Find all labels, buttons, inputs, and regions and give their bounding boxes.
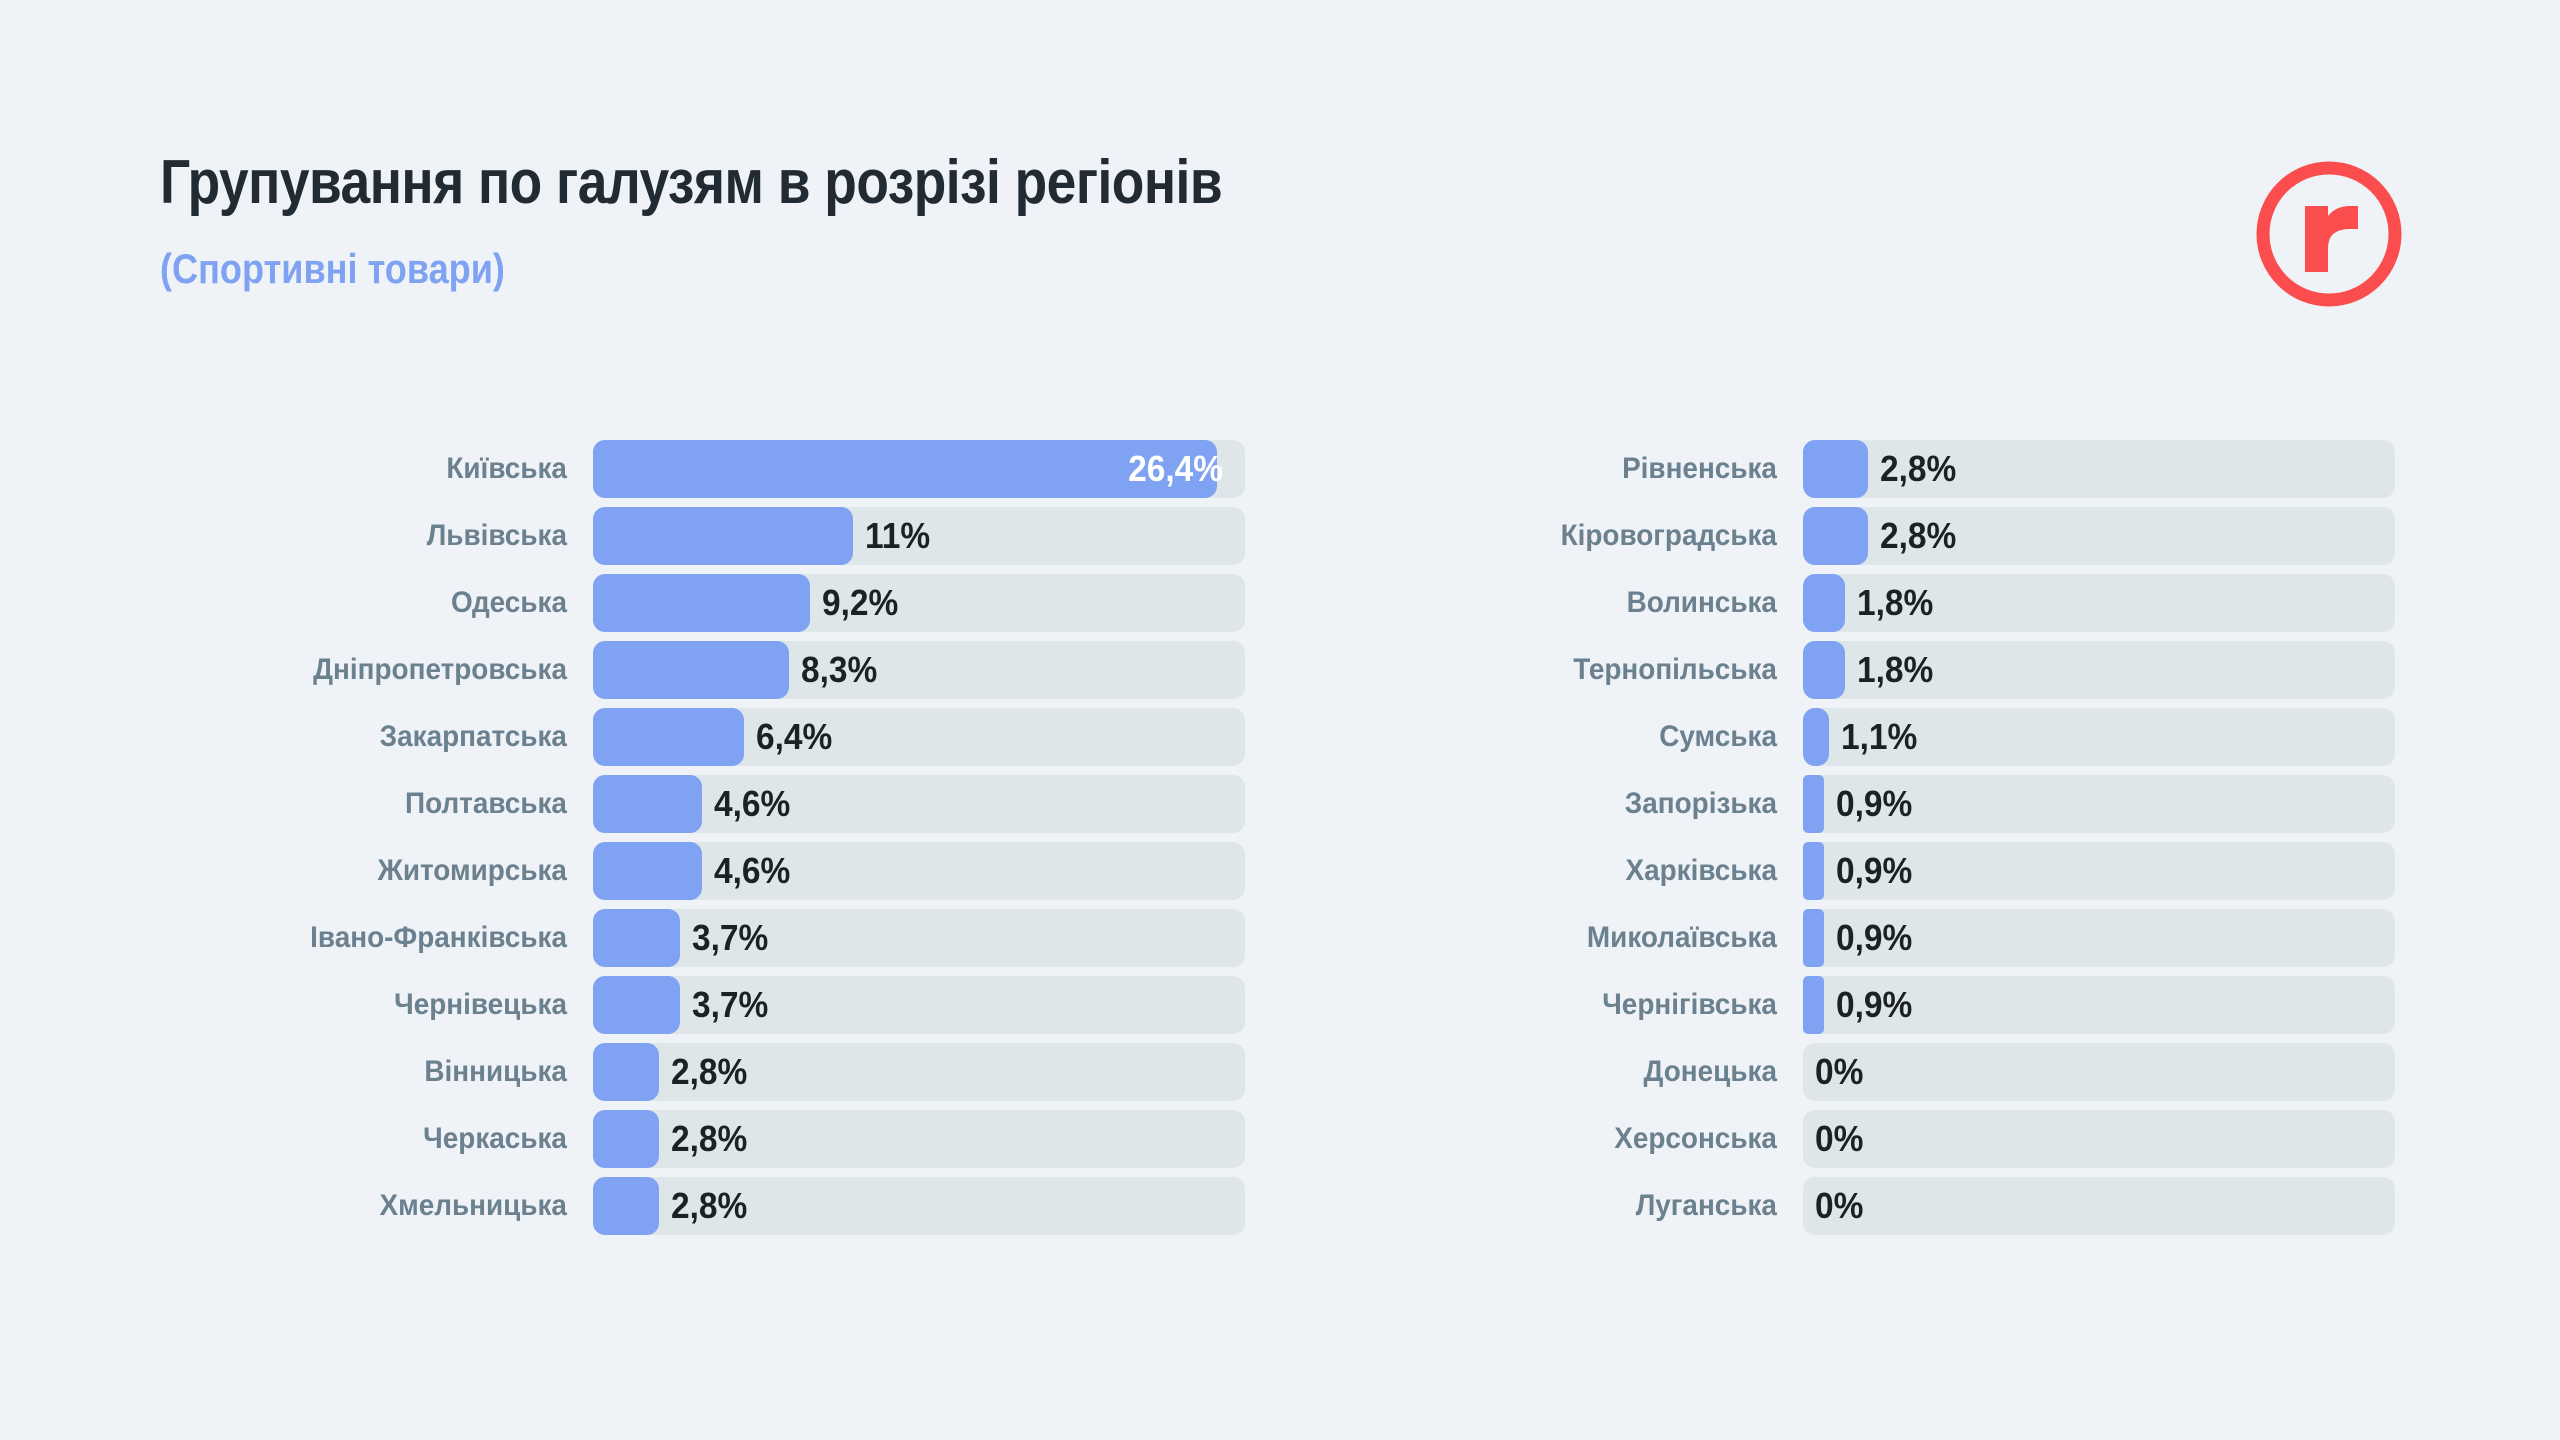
bar-value-label: 6,4% <box>756 708 832 766</box>
bar-fill <box>1803 909 1824 967</box>
page-header: Групування по галузям в розрізі регіонів… <box>0 0 2560 340</box>
bar-value-label: 3,7% <box>692 909 768 967</box>
bar-fill <box>593 1110 659 1168</box>
bar-track: 2,8% <box>593 1110 1245 1168</box>
bar-row: Івано-Франківська3,7% <box>160 909 1245 967</box>
bar-row: Херсонська0% <box>1320 1110 2395 1168</box>
bar-track: 0% <box>1803 1043 2395 1101</box>
bar-fill <box>1803 976 1824 1034</box>
bar-row-label: Волинська <box>1354 586 1803 620</box>
bar-track: 3,7% <box>593 976 1245 1034</box>
bar-value-label: 2,8% <box>671 1177 747 1235</box>
bar-value-label: 1,1% <box>1841 708 1917 766</box>
bar-fill <box>1803 507 1868 565</box>
bar-value-label: 2,8% <box>1880 440 1956 498</box>
bar-track: 2,8% <box>593 1177 1245 1235</box>
bar-row-label: Вінницька <box>190 1055 593 1089</box>
bar-fill <box>1803 775 1824 833</box>
bar-track: 11% <box>593 507 1245 565</box>
bar-row-label: Луганська <box>1354 1189 1803 1223</box>
bar-value-label: 8,3% <box>801 641 877 699</box>
bar-track: 8,3% <box>593 641 1245 699</box>
bar-row: Сумська1,1% <box>1320 708 2395 766</box>
bar-fill <box>593 976 680 1034</box>
bar-fill <box>593 775 702 833</box>
bar-fill <box>593 909 680 967</box>
bar-row: Кіровоградська2,8% <box>1320 507 2395 565</box>
bar-value-label: 4,6% <box>714 775 790 833</box>
bar-track: 0,9% <box>1803 909 2395 967</box>
bar-value-label: 26,4% <box>1128 440 1223 498</box>
bar-fill <box>593 641 789 699</box>
bar-row-label: Харківська <box>1354 854 1803 888</box>
bar-row-label: Львівська <box>190 519 593 553</box>
bar-fill <box>593 1177 659 1235</box>
bar-row: Харківська0,9% <box>1320 842 2395 900</box>
bar-fill <box>593 1043 659 1101</box>
left-column: Київська26,4%Львівська11%Одеська9,2%Дніп… <box>160 440 1245 1244</box>
bar-row: Волинська1,8% <box>1320 574 2395 632</box>
bar-row-label: Миколаївська <box>1354 921 1803 955</box>
bar-track: 4,6% <box>593 775 1245 833</box>
r-logo <box>2250 155 2408 313</box>
bar-fill <box>1803 842 1824 900</box>
bar-track: 6,4% <box>593 708 1245 766</box>
bar-fill <box>593 708 744 766</box>
bar-chart: Київська26,4%Львівська11%Одеська9,2%Дніп… <box>0 440 2560 1280</box>
bar-row: Житомирська4,6% <box>160 842 1245 900</box>
bar-value-label: 1,8% <box>1857 574 1933 632</box>
bar-fill <box>1803 574 1845 632</box>
bar-value-label: 0% <box>1815 1043 1863 1101</box>
bar-fill <box>1803 708 1829 766</box>
bar-row-label: Чернівецька <box>190 988 593 1022</box>
bar-fill <box>593 574 810 632</box>
bar-row-label: Житомирська <box>190 854 593 888</box>
bar-value-label: 2,8% <box>1880 507 1956 565</box>
bar-value-label: 1,8% <box>1857 641 1933 699</box>
bar-row-label: Донецька <box>1354 1055 1803 1089</box>
bar-row: Донецька0% <box>1320 1043 2395 1101</box>
bar-value-label: 0,9% <box>1836 775 1912 833</box>
bar-track: 2,8% <box>1803 440 2395 498</box>
bar-track: 1,8% <box>1803 574 2395 632</box>
bar-row-label: Полтавська <box>190 787 593 821</box>
bar-row: Київська26,4% <box>160 440 1245 498</box>
bar-value-label: 11% <box>865 507 930 565</box>
bar-row: Полтавська4,6% <box>160 775 1245 833</box>
bar-row: Миколаївська0,9% <box>1320 909 2395 967</box>
page-title: Групування по галузям в розрізі регіонів <box>160 152 1222 214</box>
bar-track: 0,9% <box>1803 775 2395 833</box>
page-subtitle: (Спортивні товари) <box>160 248 505 290</box>
bar-row-label: Херсонська <box>1354 1122 1803 1156</box>
bar-row: Закарпатська6,4% <box>160 708 1245 766</box>
bar-row: Одеська9,2% <box>160 574 1245 632</box>
bar-track: 1,8% <box>1803 641 2395 699</box>
bar-track: 4,6% <box>593 842 1245 900</box>
bar-fill <box>593 842 702 900</box>
bar-row: Вінницька2,8% <box>160 1043 1245 1101</box>
bar-value-label: 9,2% <box>822 574 898 632</box>
bar-row-label: Хмельницька <box>190 1189 593 1223</box>
bar-row-label: Тернопільська <box>1354 653 1803 687</box>
bar-value-label: 2,8% <box>671 1043 747 1101</box>
bar-row: Рівненська2,8% <box>1320 440 2395 498</box>
bar-row: Дніпропетровська8,3% <box>160 641 1245 699</box>
bar-row: Луганська0% <box>1320 1177 2395 1235</box>
bar-value-label: 3,7% <box>692 976 768 1034</box>
bar-value-label: 0,9% <box>1836 976 1912 1034</box>
bar-value-label: 0% <box>1815 1110 1863 1168</box>
bar-row-label: Запорізька <box>1354 787 1803 821</box>
bar-value-label: 4,6% <box>714 842 790 900</box>
bar-fill <box>1803 641 1845 699</box>
bar-value-label: 0% <box>1815 1177 1863 1235</box>
bar-row-label: Київська <box>190 452 593 486</box>
bar-row-label: Івано-Франківська <box>190 921 593 955</box>
bar-row: Хмельницька2,8% <box>160 1177 1245 1235</box>
bar-row-label: Закарпатська <box>190 720 593 754</box>
bar-row: Черкаська2,8% <box>160 1110 1245 1168</box>
bar-value-label: 0,9% <box>1836 842 1912 900</box>
bar-row-label: Кіровоградська <box>1354 519 1803 553</box>
bar-row: Львівська11% <box>160 507 1245 565</box>
bar-track: 0,9% <box>1803 976 2395 1034</box>
bar-row: Запорізька0,9% <box>1320 775 2395 833</box>
bar-row: Тернопільська1,8% <box>1320 641 2395 699</box>
bar-fill <box>593 440 1217 498</box>
bar-row-label: Одеська <box>190 586 593 620</box>
bar-track: 0,9% <box>1803 842 2395 900</box>
bar-fill <box>593 507 853 565</box>
bar-row: Чернівецька3,7% <box>160 976 1245 1034</box>
bar-track: 0% <box>1803 1177 2395 1235</box>
bar-value-label: 0,9% <box>1836 909 1912 967</box>
bar-row-label: Рівненська <box>1354 452 1803 486</box>
bar-track: 2,8% <box>593 1043 1245 1101</box>
bar-value-label: 2,8% <box>671 1110 747 1168</box>
right-column: Рівненська2,8%Кіровоградська2,8%Волинськ… <box>1320 440 2395 1244</box>
bar-row-label: Чернігівська <box>1354 988 1803 1022</box>
bar-track: 2,8% <box>1803 507 2395 565</box>
bar-track: 0% <box>1803 1110 2395 1168</box>
bar-row-label: Дніпропетровська <box>190 653 593 687</box>
bar-track: 3,7% <box>593 909 1245 967</box>
bar-row-label: Черкаська <box>190 1122 593 1156</box>
bar-track: 26,4% <box>593 440 1245 498</box>
bar-fill <box>1803 440 1868 498</box>
bar-track: 1,1% <box>1803 708 2395 766</box>
bar-row-label: Сумська <box>1354 720 1803 754</box>
bar-row: Чернігівська0,9% <box>1320 976 2395 1034</box>
bar-track: 9,2% <box>593 574 1245 632</box>
